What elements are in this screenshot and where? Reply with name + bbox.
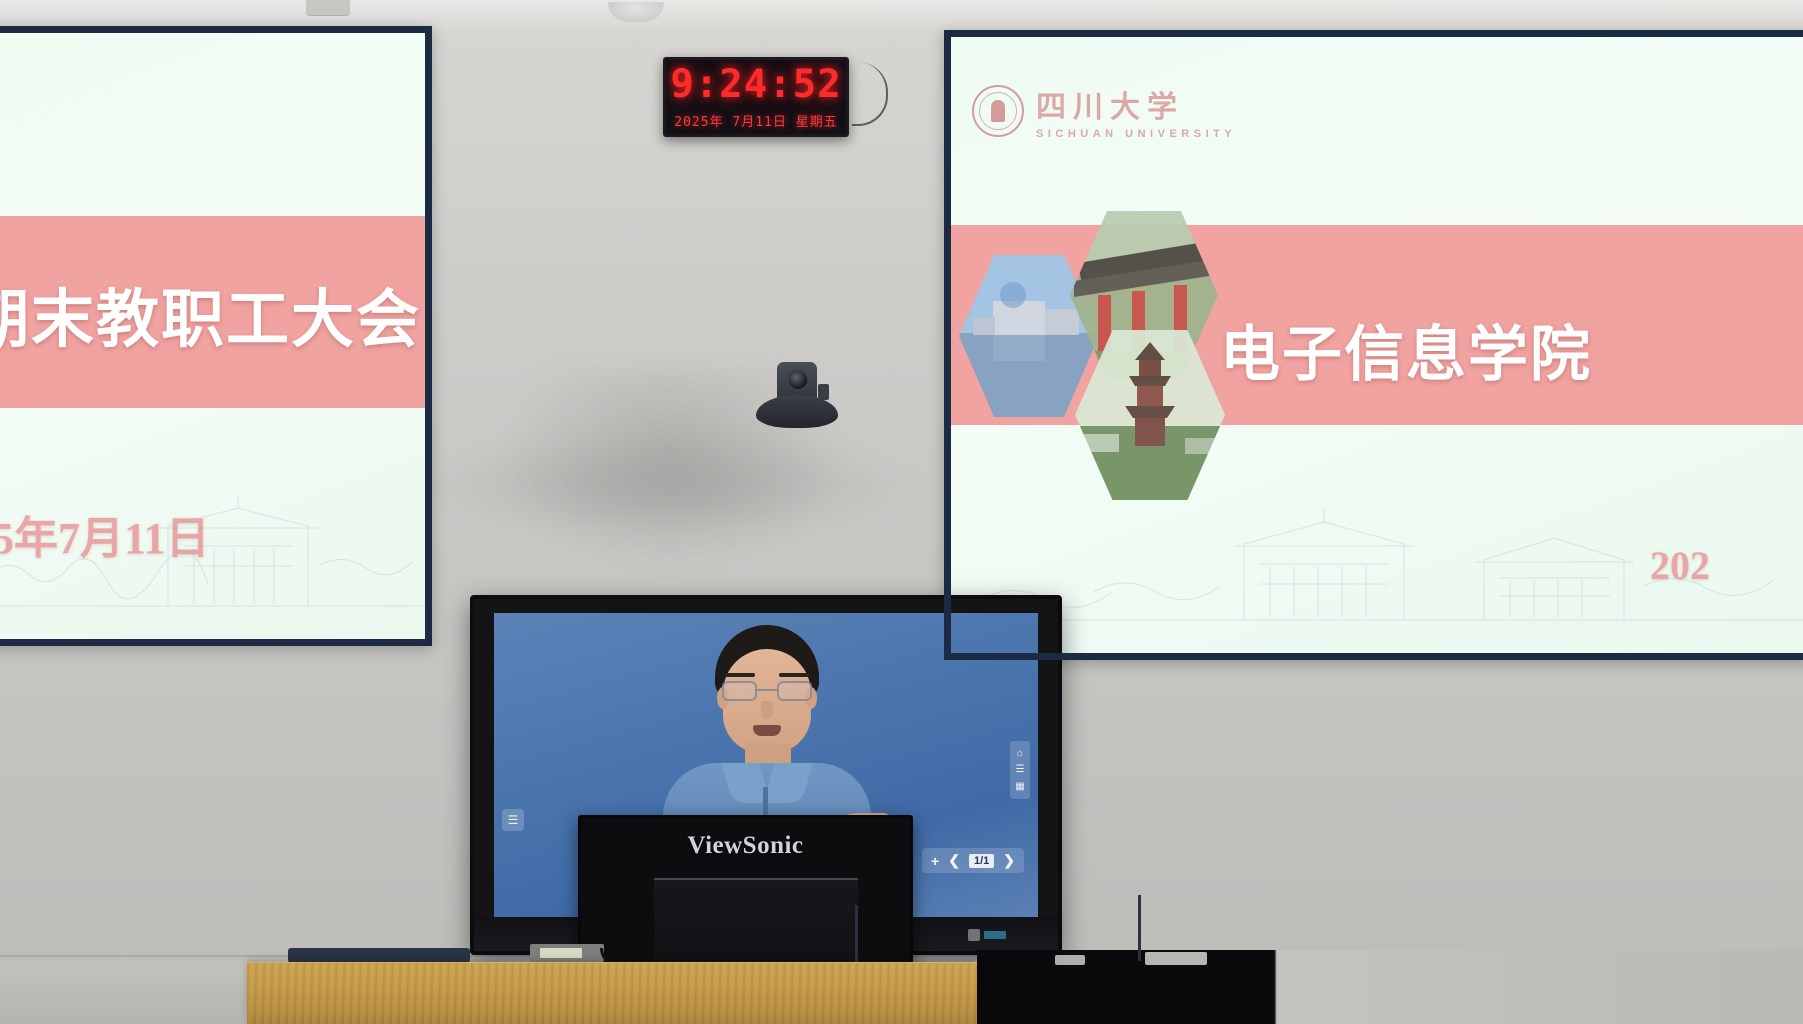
right-slide: 四川大学 SICHUAN UNIVERSITY bbox=[944, 30, 1803, 660]
display-status-led bbox=[984, 931, 1006, 939]
sichuan-university-logo: 四川大学 SICHUAN UNIVERSITY bbox=[972, 82, 1236, 140]
presenter-brow-left bbox=[725, 673, 755, 677]
page-indicator: 1/1 bbox=[969, 854, 994, 868]
camera-base bbox=[756, 395, 838, 428]
mic-stand-right bbox=[1138, 895, 1141, 961]
glasses-bridge bbox=[757, 689, 777, 691]
ptz-conference-camera bbox=[756, 362, 838, 428]
mic-stand-left bbox=[855, 905, 858, 963]
logo-wordmark: 四川大学 SICHUAN UNIVERSITY bbox=[1036, 82, 1236, 140]
presenter-brow-right bbox=[779, 673, 809, 677]
equipment-pad-secondary bbox=[1055, 955, 1085, 965]
presenter-nose bbox=[761, 701, 773, 719]
clock-time-display: 9:24:52 bbox=[670, 65, 841, 104]
logo-chinese-name: 四川大学 bbox=[1036, 82, 1236, 126]
next-page-icon[interactable]: ❯ bbox=[1003, 852, 1015, 869]
presenter-glasses bbox=[721, 681, 813, 701]
left-slide: 期末教职工大会 25年7月11日 ⋮ ◎ bbox=[0, 26, 432, 646]
left-slide-title: 期末教职工大会 bbox=[0, 269, 421, 360]
presenter-mouth bbox=[753, 725, 781, 736]
right-projection-screen: 四川大学 SICHUAN UNIVERSITY bbox=[944, 30, 1803, 660]
left-slide-sketch bbox=[0, 456, 432, 646]
zoom-in-button[interactable]: + bbox=[931, 853, 939, 869]
right-slide-title: 电子信息学院 bbox=[1220, 306, 1592, 393]
desk-edge-strip bbox=[288, 948, 470, 963]
prev-page-icon[interactable]: ❮ bbox=[948, 852, 960, 869]
glasses-lens-right bbox=[777, 681, 812, 701]
lower-wall-right bbox=[977, 950, 1803, 1024]
equipment-pad bbox=[1145, 952, 1207, 965]
left-projection-screen: 期末教职工大会 25年7月11日 ⋮ ◎ bbox=[0, 26, 432, 646]
display-zoom-toolbar[interactable]: + ❮ 1/1 ❯ bbox=[922, 848, 1024, 873]
grid-icon[interactable]: ▦ bbox=[1015, 781, 1024, 792]
right-slide-sketch bbox=[944, 470, 1803, 660]
ceiling-vent bbox=[306, 0, 350, 16]
menu-icon[interactable]: ☰ bbox=[1016, 764, 1025, 775]
camera-lens-icon bbox=[787, 369, 809, 391]
cable-label bbox=[540, 948, 582, 958]
wall-stain-secondary bbox=[430, 430, 910, 540]
glasses-lens-left bbox=[722, 681, 757, 701]
display-power-button[interactable] bbox=[968, 929, 980, 941]
university-seal-icon bbox=[972, 85, 1024, 137]
seal-glyph bbox=[991, 100, 1005, 122]
monitor-brand-label: ViewSonic bbox=[581, 832, 910, 860]
clock-date-display: 2025年 7月11日 星期五 bbox=[674, 111, 837, 130]
home-icon[interactable]: ⌂ bbox=[1017, 748, 1023, 759]
display-side-toolbar[interactable]: ⌂ ☰ ▦ bbox=[1010, 741, 1030, 799]
wooden-podium bbox=[247, 962, 977, 1024]
led-wall-clock: 9:24:52 2025年 7月11日 星期五 bbox=[663, 57, 849, 137]
sliders-icon: ☰ bbox=[508, 813, 519, 827]
logo-english-name: SICHUAN UNIVERSITY bbox=[1036, 128, 1236, 140]
lower-wall-left bbox=[0, 960, 247, 1024]
conference-room-scene: 期末教职工大会 25年7月11日 ⋮ ◎ bbox=[0, 0, 1803, 1024]
display-settings-button[interactable]: ☰ bbox=[502, 809, 524, 831]
